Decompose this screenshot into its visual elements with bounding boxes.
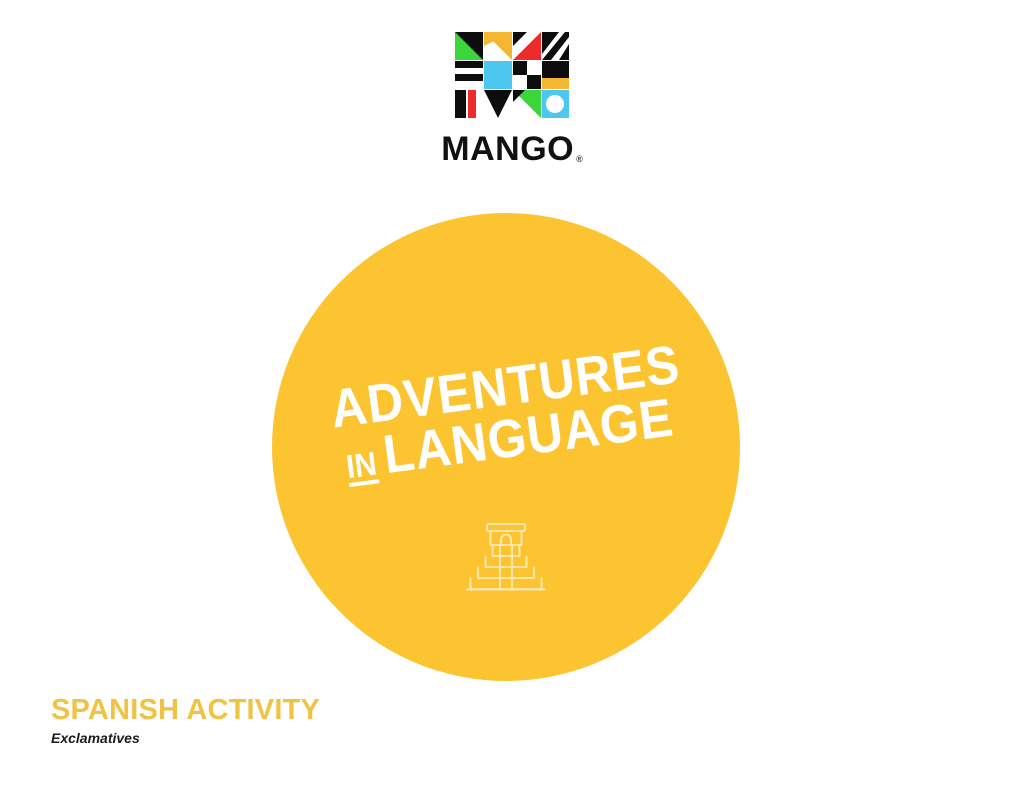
- hero-circle: ADVENTURES IN LANGUAGE: [272, 213, 740, 681]
- activity-cover-page: { "brand": { "wordmark": "MANGO", "trade…: [0, 0, 1024, 791]
- brand-wordmark-row: MANGO ®: [441, 132, 582, 166]
- activity-subtitle: Exclamatives: [51, 731, 320, 745]
- brand-logo: MANGO ®: [0, 32, 1024, 166]
- mayan-step-pyramid-icon: [463, 518, 549, 598]
- mango-m-mosaic-logo-icon: [455, 32, 569, 118]
- hero-title-small-word: IN: [344, 448, 379, 487]
- pyramid-icon-container: [272, 518, 740, 598]
- hero-title: ADVENTURES IN LANGUAGE: [267, 333, 744, 496]
- footer-caption: SPANISH ACTIVITY Exclamatives: [51, 695, 320, 745]
- brand-wordmark: MANGO: [441, 132, 574, 166]
- trademark-symbol: ®: [576, 155, 583, 164]
- activity-title: SPANISH ACTIVITY: [51, 695, 320, 725]
